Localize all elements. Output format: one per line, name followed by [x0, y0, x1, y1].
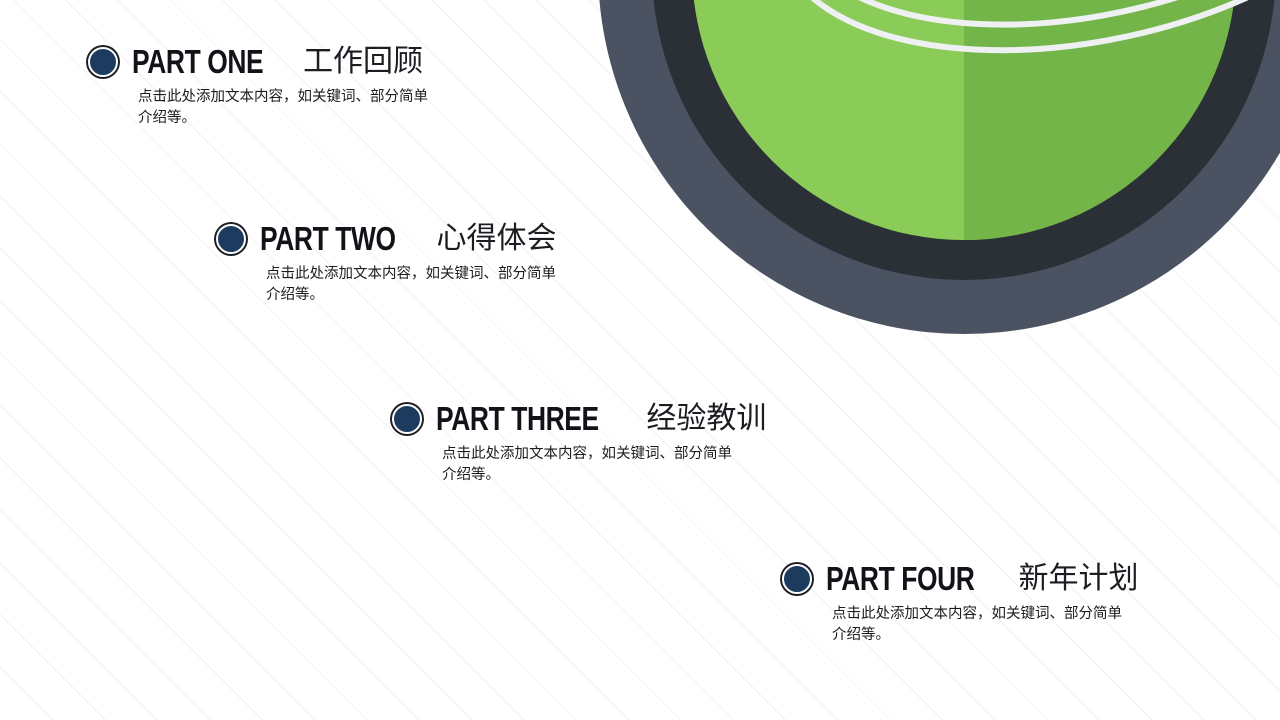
bullet-circle-icon [392, 404, 422, 434]
bullet-circle-icon [782, 564, 812, 594]
agenda-item-part-four[interactable]: PART FOUR 新年计划 点击此处添加文本内容，如关键词、部分简单介绍等。 [782, 562, 1139, 645]
part-label-en: PART TWO [260, 222, 396, 255]
agenda-item-heading: PART FOUR 新年计划 [782, 562, 1139, 595]
part-label-cn: 新年计划 [1019, 564, 1139, 594]
part-body-text: 点击此处添加文本内容，如关键词、部分简单介绍等。 [442, 444, 742, 485]
part-label-cn: 经验教训 [646, 404, 766, 434]
agenda-item-heading: PART TWO 心得体会 [216, 222, 566, 255]
agenda-item-part-three[interactable]: PART THREE 经验教训 点击此处添加文本内容，如关键词、部分简单介绍等。 [392, 402, 766, 485]
agenda-item-part-one[interactable]: PART ONE 工作回顾 点击此处添加文本内容，如关键词、部分简单介绍等。 [88, 45, 438, 128]
bullet-circle-icon [216, 224, 246, 254]
part-label-en: PART FOUR [826, 562, 974, 595]
part-label-en: PART ONE [132, 45, 263, 78]
part-label-cn: 工作回顾 [303, 47, 423, 77]
globe-graphic [594, 0, 1280, 338]
agenda-item-heading: PART ONE 工作回顾 [88, 45, 438, 78]
presentation-slide: PART ONE 工作回顾 点击此处添加文本内容，如关键词、部分简单介绍等。 P… [0, 0, 1280, 720]
part-body-text: 点击此处添加文本内容，如关键词、部分简单介绍等。 [266, 264, 566, 305]
agenda-item-part-two[interactable]: PART TWO 心得体会 点击此处添加文本内容，如关键词、部分简单介绍等。 [216, 222, 566, 305]
part-label-cn: 心得体会 [437, 224, 557, 254]
agenda-item-heading: PART THREE 经验教训 [392, 402, 766, 435]
part-body-text: 点击此处添加文本内容，如关键词、部分简单介绍等。 [832, 604, 1132, 645]
part-label-en: PART THREE [436, 402, 599, 435]
part-body-text: 点击此处添加文本内容，如关键词、部分简单介绍等。 [138, 87, 438, 128]
bullet-circle-icon [88, 47, 118, 77]
